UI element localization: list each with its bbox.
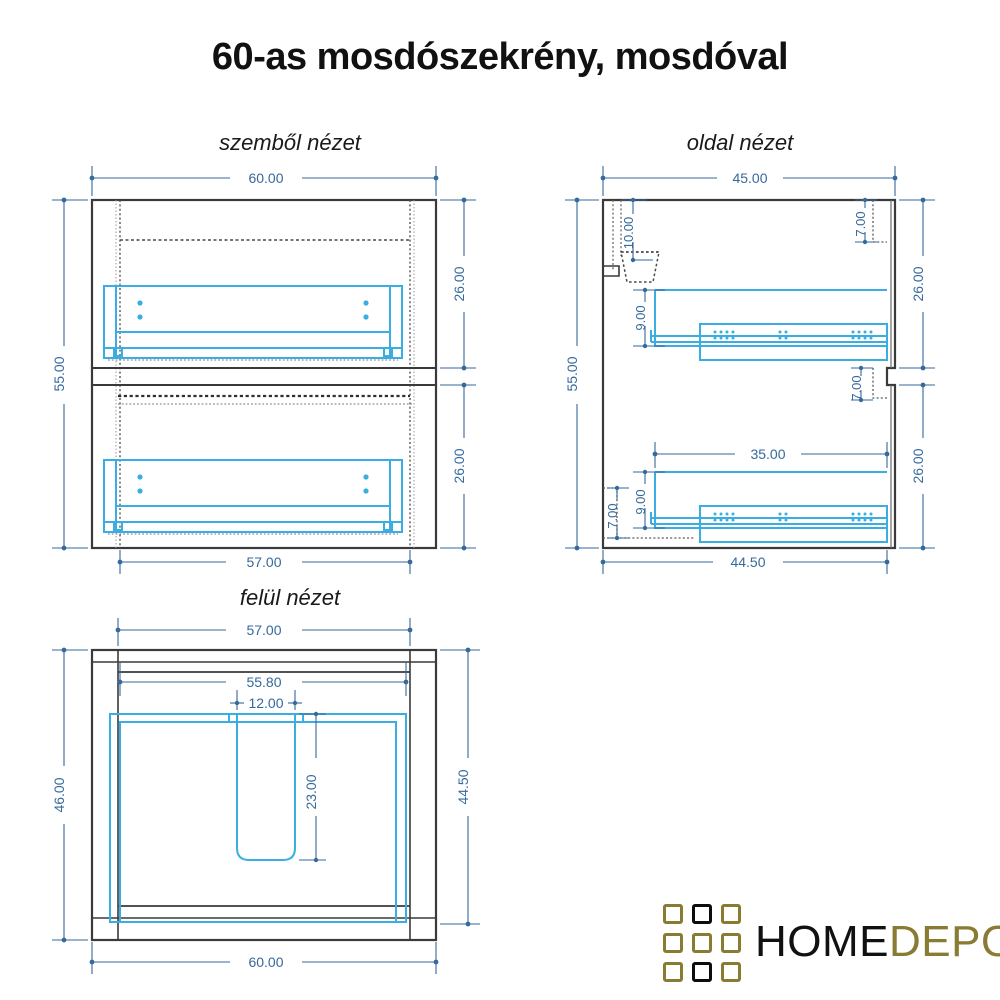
logo-square-1-2 [721, 933, 741, 953]
logo-square-2-0 [663, 962, 683, 982]
logo-text-depo: DEPO [889, 917, 1000, 966]
logo-wordmark: HOMEDEPO [755, 916, 1000, 968]
dim-side-rail-upper: 9.00 [633, 305, 648, 330]
logo-text-home: HOME [755, 917, 889, 966]
top-view-drawing: 57.00 60.00 46.00 [30, 610, 550, 1000]
dim-front-drawer-upper: 26.00 [451, 266, 467, 301]
dim-top-depth-left: 46.00 [51, 777, 67, 812]
dim-top-basin-width: 55.80 [246, 674, 281, 690]
dim-top-cutout-depth: 23.00 [303, 774, 319, 809]
dim-front-drawer-lower: 26.00 [451, 448, 467, 483]
logo-square-2-1 [692, 962, 712, 982]
dim-side-rail-length: 35.00 [750, 446, 785, 462]
dim-side-inset-bottom: 7.00 [605, 503, 620, 528]
top-view-label: felül nézet [140, 585, 440, 611]
side-view-drawing: 45.00 44.50 55.00 [555, 160, 975, 580]
dim-side-drawer-lower: 26.00 [910, 448, 926, 483]
logo-square-1-1 [692, 933, 712, 953]
drawing-canvas: 60-as mosdószekrény, mosdóval szemből né… [0, 0, 1000, 1000]
dim-side-inset-top: 7.00 [853, 211, 868, 236]
dim-side-depth-outer: 45.00 [732, 170, 767, 186]
front-view-label: szemből nézet [140, 130, 440, 156]
dim-top-width-outer: 60.00 [248, 954, 283, 970]
front-view-drawing: 60.00 57.00 55.00 [30, 160, 550, 580]
dim-front-width-outer: 60.00 [248, 170, 283, 186]
dim-side-rail-lower: 9.00 [633, 489, 648, 514]
logo-square-0-0 [663, 904, 683, 924]
logo-grid-icon [663, 904, 741, 982]
dim-side-drawer-upper: 26.00 [910, 266, 926, 301]
logo-square-1-0 [663, 933, 683, 953]
page-title: 60-as mosdószekrény, mosdóval [0, 36, 1000, 79]
dim-top-depth-right: 44.50 [455, 769, 471, 804]
dim-front-height-total: 55.00 [51, 356, 67, 391]
logo-square-2-2 [721, 962, 741, 982]
logo-square-0-2 [721, 904, 741, 924]
dim-side-depth-inner: 44.50 [730, 554, 765, 570]
homedepo-logo[interactable]: HOMEDEPO [663, 900, 993, 986]
dim-top-width-inner: 57.00 [246, 622, 281, 638]
dim-top-cutout-width: 12.00 [248, 695, 283, 711]
dim-front-width-inner: 57.00 [246, 554, 281, 570]
dim-side-inset-mid: 7.00 [849, 375, 864, 400]
dim-side-basin-drop: 10.00 [621, 217, 636, 250]
side-view-label: oldal nézet [590, 130, 890, 156]
logo-square-0-1 [692, 904, 712, 924]
dim-side-height-total: 55.00 [564, 356, 580, 391]
